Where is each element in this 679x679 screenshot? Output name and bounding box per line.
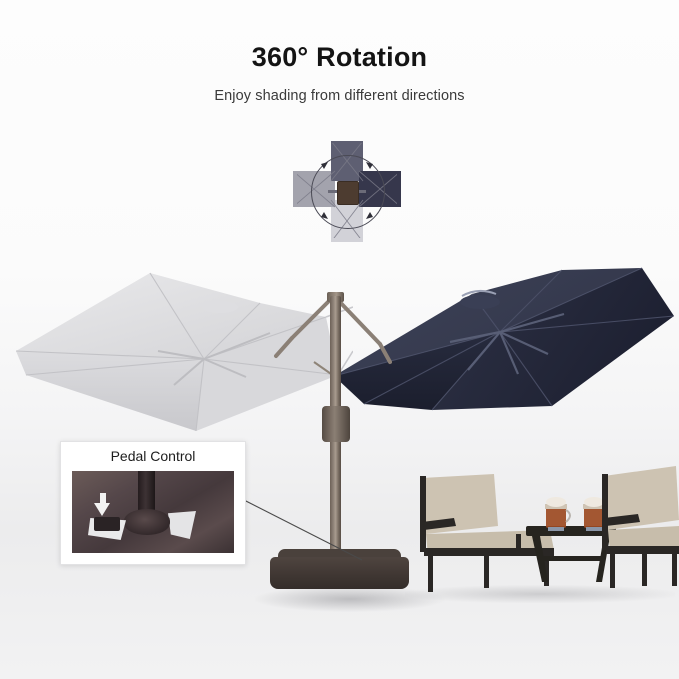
pedal-control-photo <box>72 471 234 553</box>
rotation-joint <box>322 406 350 442</box>
chaise-lounge-right <box>602 466 679 588</box>
product-feature-image: 360° Rotation Enjoy shading from differe… <box>0 0 679 679</box>
down-arrow-icon <box>94 503 110 516</box>
page-subtitle: Enjoy shading from different directions <box>0 88 679 104</box>
drink-glass-left <box>545 497 570 531</box>
callout-leader-line <box>240 490 370 570</box>
patio-furniture-scene <box>398 460 679 600</box>
rotation-hub-icon <box>337 181 359 205</box>
foot-pedal <box>94 517 120 531</box>
support-arms <box>262 286 392 426</box>
rotation-diagram <box>297 143 397 238</box>
callout-label: Pedal Control <box>61 448 245 464</box>
pedal-highlight-right <box>168 511 196 539</box>
pedal-control-callout: Pedal Control <box>60 441 246 565</box>
page-title: 360° Rotation <box>0 42 679 73</box>
pedal-photo-collar <box>124 509 170 535</box>
